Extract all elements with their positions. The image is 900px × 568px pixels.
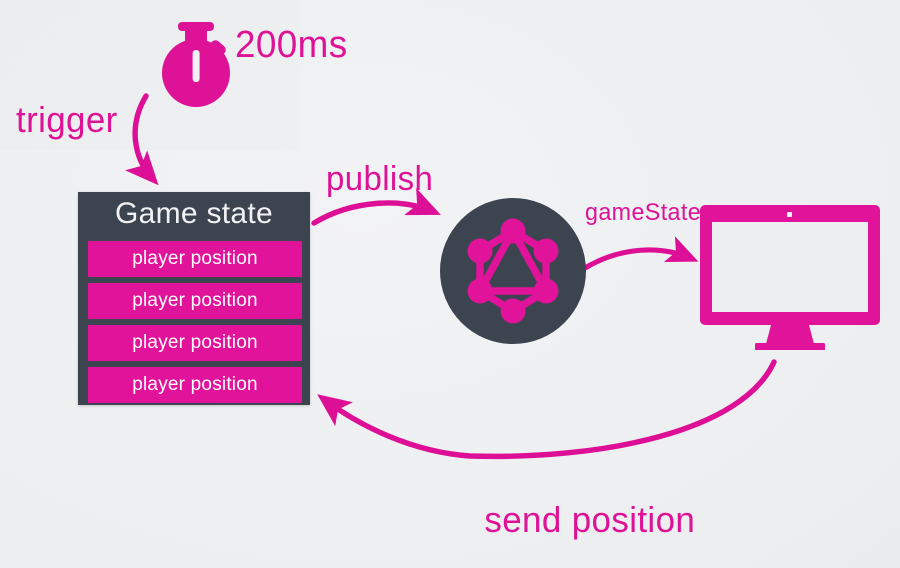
monitor-icon[interactable] — [700, 205, 880, 350]
game-state-box[interactable]: Game state player position player positi… — [78, 192, 310, 405]
timer-interval-label: 200ms — [235, 24, 348, 67]
send-position-edge-label: send position every 100ms — [444, 460, 695, 568]
list-item[interactable]: player position — [88, 367, 302, 403]
list-item[interactable]: player position — [88, 241, 302, 277]
send-position-line-1: send position — [484, 499, 695, 540]
camera-dot-icon — [787, 212, 792, 217]
graphql-badge[interactable] — [440, 198, 586, 344]
publish-edge-label: publish — [326, 160, 433, 198]
game-state-title: Game state — [78, 197, 310, 231]
graphql-logo-icon — [440, 198, 586, 344]
player-position-list: player position player position player p… — [88, 241, 302, 403]
list-item[interactable]: player position — [88, 325, 302, 361]
gamestate-edge-label: gameState — [585, 200, 701, 227]
diagram-canvas: Game state player position player positi… — [0, 0, 900, 568]
trigger-edge-label: trigger — [16, 100, 118, 140]
list-item[interactable]: player position — [88, 283, 302, 319]
